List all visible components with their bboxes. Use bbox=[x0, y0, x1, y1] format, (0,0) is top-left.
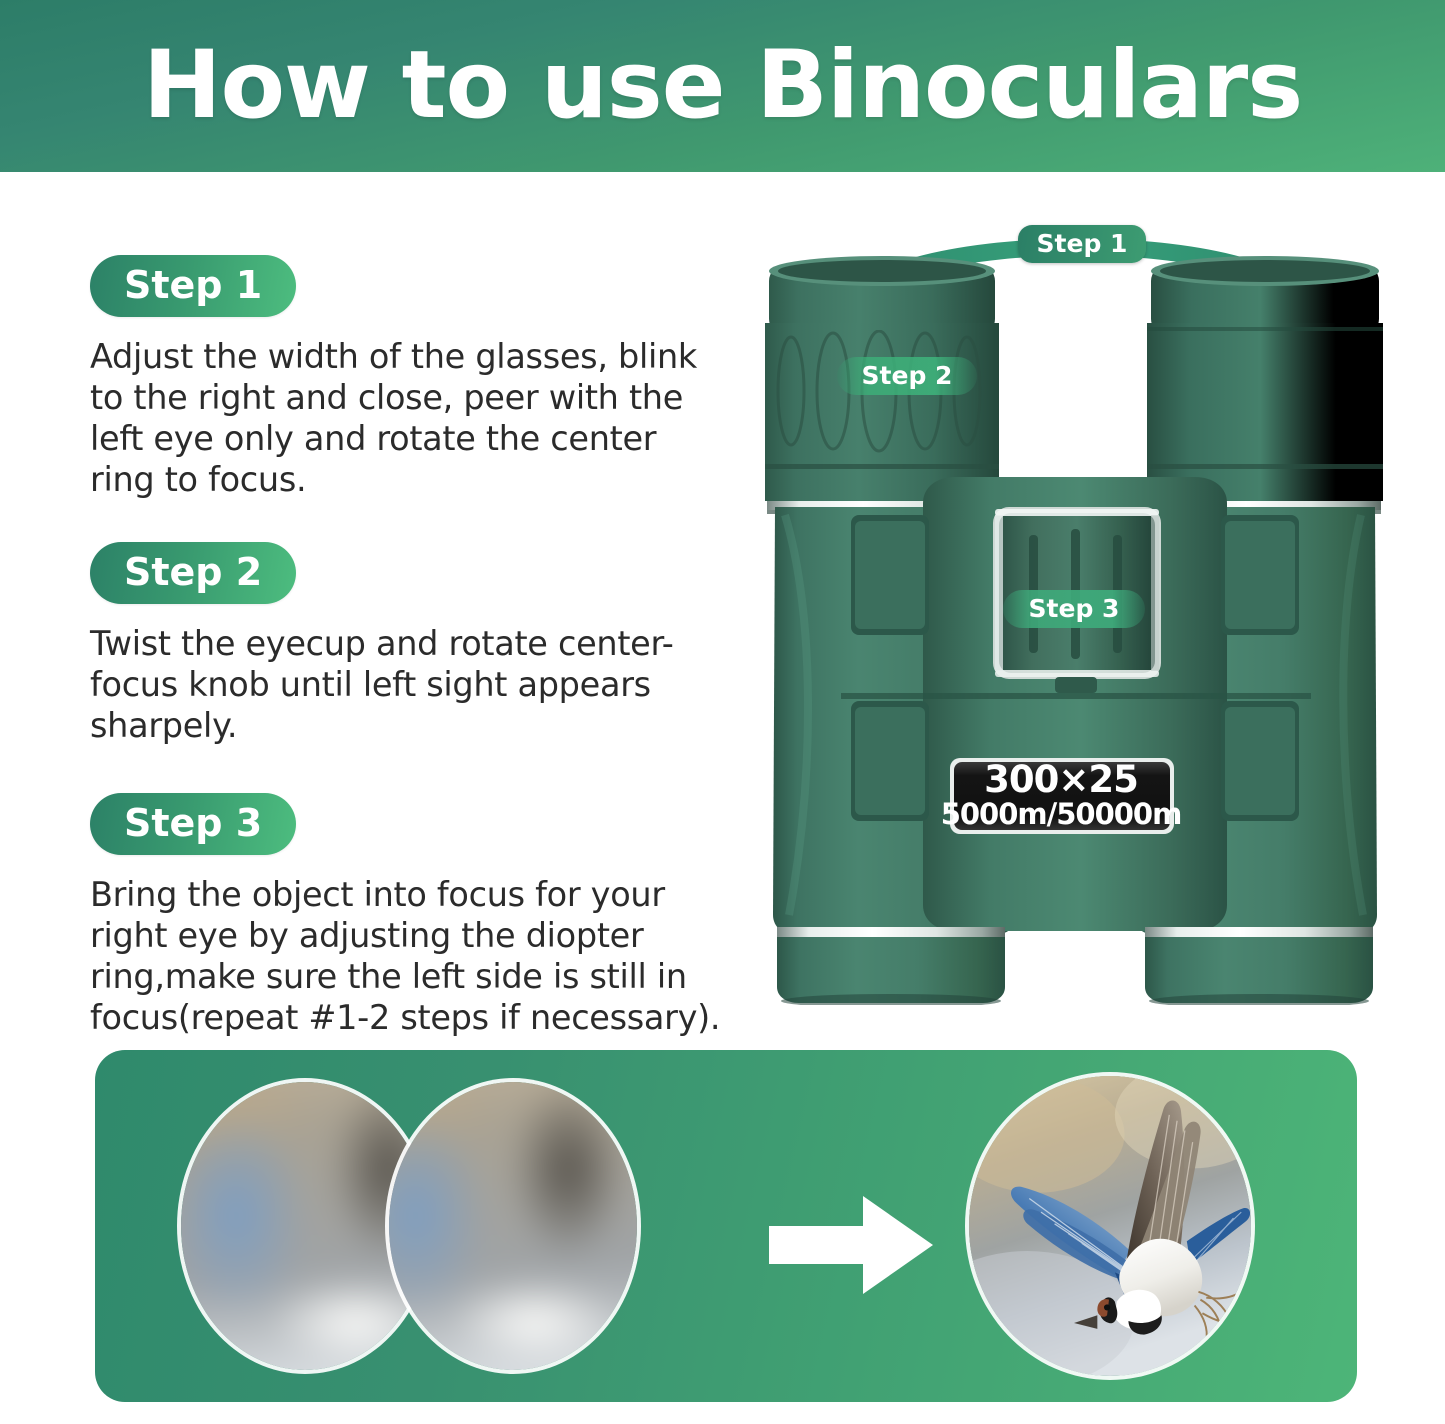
focus-comparison-panel bbox=[95, 1050, 1357, 1402]
callout-step-1: Step 1 bbox=[1018, 225, 1146, 263]
blurred-bird-scene bbox=[389, 1082, 637, 1370]
spec-plate-graphic bbox=[950, 758, 1174, 834]
blurred-lens-right-image bbox=[389, 1082, 637, 1370]
focused-bird-image bbox=[969, 1076, 1251, 1376]
binoculars-illustration: 300×25 5000m/50000m Step 1 Step 2 Step 3 bbox=[755, 215, 1395, 1005]
step-description-2: Twist the eyecup and rotate center-focus… bbox=[90, 624, 730, 747]
step-item-3: Step 3 Bring the object into focus for y… bbox=[90, 793, 730, 1038]
callout-step-3: Step 3 bbox=[1003, 590, 1145, 628]
step-badge-1: Step 1 bbox=[90, 255, 296, 317]
step-item-1: Step 1 Adjust the width of the glasses, … bbox=[90, 255, 730, 500]
callout-step-2: Step 2 bbox=[837, 357, 977, 395]
step-description-3: Bring the object into focus for your rig… bbox=[90, 875, 730, 1038]
page-title: How to use Binoculars bbox=[0, 0, 1445, 172]
step-description-1: Adjust the width of the glasses, blink t… bbox=[90, 337, 730, 500]
page-header: How to use Binoculars bbox=[0, 0, 1445, 172]
right-eyecup-barrel bbox=[1147, 256, 1383, 514]
bird-icon bbox=[969, 1076, 1251, 1376]
objective-barrels bbox=[777, 927, 1373, 1005]
step-badge-3: Step 3 bbox=[90, 793, 296, 855]
focused-lens bbox=[965, 1072, 1255, 1380]
blurred-lens-right bbox=[385, 1078, 641, 1374]
step-badge-2: Step 2 bbox=[90, 542, 296, 604]
steps-list: Step 1 Adjust the width of the glasses, … bbox=[90, 255, 730, 1076]
arrow-right-icon bbox=[767, 1190, 937, 1300]
step-item-2: Step 2 Twist the eyecup and rotate cente… bbox=[90, 542, 730, 747]
